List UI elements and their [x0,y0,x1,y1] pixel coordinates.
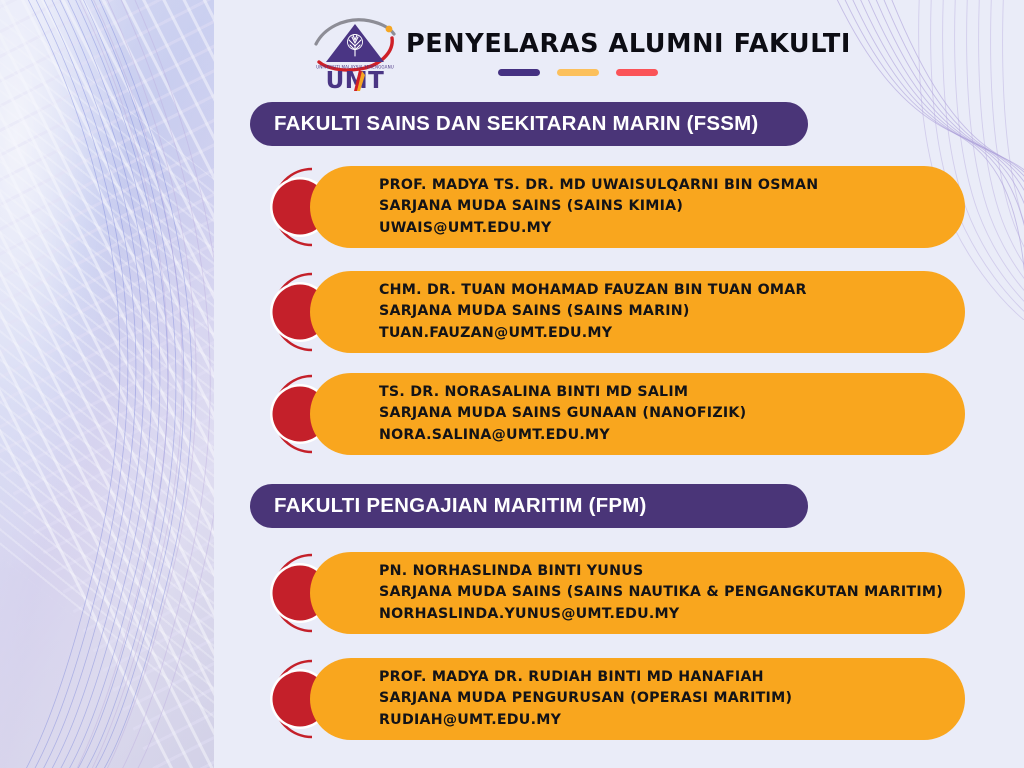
coordinator-card-body: PROF. MADYA DR. RUDIAH BINTI MD HANAFIAH… [310,658,965,740]
dash-purple-icon [498,69,540,76]
faculty-heading-fssm: FAKULTI SAINS DAN SEKITARAN MARIN (FSSM) [250,102,808,146]
dash-coral-icon [616,69,658,76]
coordinator-email[interactable]: RUDIAH@UMT.EDU.MY [379,710,939,732]
coordinator-name: CHM. DR. TUAN MOHAMAD FAUZAN BIN TUAN OM… [379,280,939,302]
coordinator-card-body: PN. NORHASLINDA BINTI YUNUSSARJANA MUDA … [310,552,965,634]
title-accent-dashes [498,69,658,76]
coordinator-programme: SARJANA MUDA SAINS (SAINS KIMIA) [379,196,939,218]
coordinator-email[interactable]: TUAN.FAUZAN@UMT.EDU.MY [379,323,939,345]
coordinator-name: PROF. MADYA TS. DR. MD UWAISULQARNI BIN … [379,175,939,197]
faculty-heading-label: FAKULTI PENGAJIAN MARITIM (FPM) [274,494,647,518]
coordinator-programme: SARJANA MUDA SAINS (SAINS NAUTIKA & PENG… [379,582,939,604]
faculty-heading-label: FAKULTI SAINS DAN SEKITARAN MARIN (FSSM) [274,112,758,136]
coordinator-name: PROF. MADYA DR. RUDIAH BINTI MD HANAFIAH [379,667,939,689]
faculty-heading-fpm: FAKULTI PENGAJIAN MARITIM (FPM) [250,484,808,528]
coordinator-email[interactable]: NORA.SALINA@UMT.EDU.MY [379,425,939,447]
coordinator-card: TS. DR. NORASALINA BINTI MD SALIMSARJANA… [252,370,965,458]
coordinator-card: PROF. MADYA DR. RUDIAH BINTI MD HANAFIAH… [252,655,965,743]
coordinator-programme: SARJANA MUDA SAINS (SAINS MARIN) [379,301,939,323]
poster-header: UNIVERSITI MALAYSIA TERENGGANU UMT PENYE… [310,12,830,94]
coordinator-email[interactable]: UWAIS@UMT.EDU.MY [379,218,939,240]
coordinator-email[interactable]: NORHASLINDA.YUNUS@UMT.EDU.MY [379,604,939,626]
coordinator-card: PN. NORHASLINDA BINTI YUNUSSARJANA MUDA … [252,549,965,637]
coordinator-programme: SARJANA MUDA PENGURUSAN (OPERASI MARITIM… [379,688,939,710]
coordinator-card-body: PROF. MADYA TS. DR. MD UWAISULQARNI BIN … [310,166,965,248]
umt-logo-mark: UNIVERSITI MALAYSIA TERENGGANU UMT [310,12,406,92]
coordinator-card: CHM. DR. TUAN MOHAMAD FAUZAN BIN TUAN OM… [252,268,965,356]
dash-amber-icon [557,69,599,76]
poster-content: UNIVERSITI MALAYSIA TERENGGANU UMT PENYE… [0,0,1024,768]
coordinator-card: PROF. MADYA TS. DR. MD UWAISULQARNI BIN … [252,163,965,251]
title-block: PENYELARAS ALUMNI FAKULTI [406,12,851,76]
coordinator-card-body: TS. DR. NORASALINA BINTI MD SALIMSARJANA… [310,373,965,455]
coordinator-name: TS. DR. NORASALINA BINTI MD SALIM [379,382,939,404]
page-title: PENYELARAS ALUMNI FAKULTI [406,32,851,58]
coordinator-programme: SARJANA MUDA SAINS GUNAAN (NANOFIZIK) [379,403,939,425]
coordinator-card-body: CHM. DR. TUAN MOHAMAD FAUZAN BIN TUAN OM… [310,271,965,353]
coordinator-name: PN. NORHASLINDA BINTI YUNUS [379,561,939,583]
umt-logo: UNIVERSITI MALAYSIA TERENGGANU UMT [310,12,406,92]
